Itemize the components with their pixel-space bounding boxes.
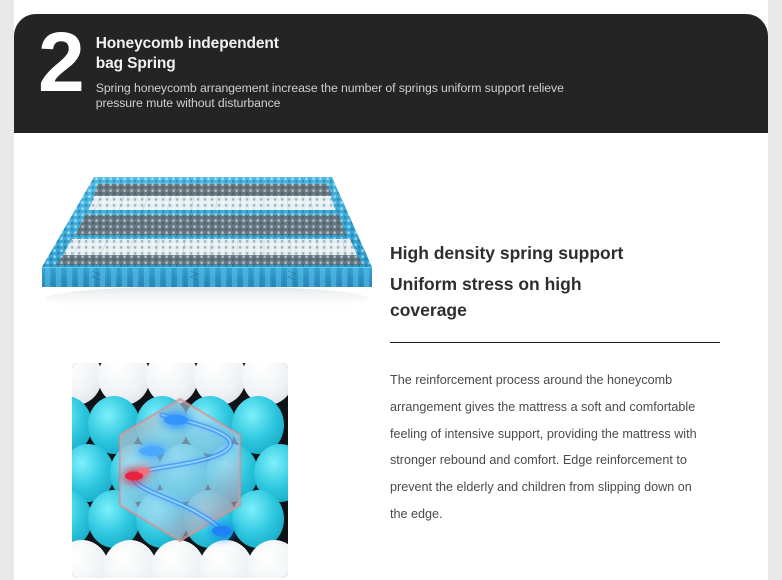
- section-body: High density spring support Uniform stre…: [14, 133, 768, 580]
- feature-text-column: High density spring support Uniform stre…: [390, 241, 730, 540]
- unit-zone-bands: [42, 177, 372, 267]
- section-subtitle: Spring honeycomb arrangement increase th…: [96, 81, 758, 112]
- section-title: Honeycomb independent bag Spring: [96, 34, 758, 74]
- section-header-banner: 2 Honeycomb independent bag Spring Sprin…: [14, 14, 768, 133]
- header-text-group: Honeycomb independent bag Spring Spring …: [96, 28, 758, 112]
- page-right-margin: [768, 0, 782, 580]
- pocket-spring-unit-graphic: [32, 171, 377, 321]
- headline-divider: [390, 342, 720, 343]
- honeycomb-hexagon-image: [72, 363, 288, 578]
- headline-secondary: Uniform stress on high coverage: [390, 272, 730, 323]
- headline-primary: High density spring support: [390, 241, 730, 266]
- header-content: 2 Honeycomb independent bag Spring Sprin…: [38, 28, 758, 133]
- page-left-margin: [0, 0, 14, 580]
- unit-shadow: [45, 286, 369, 312]
- pocket-spring-unit-image: [32, 171, 377, 321]
- honeycomb-field: [72, 363, 288, 578]
- feature-description: The reinforcement process around the hon…: [390, 367, 712, 527]
- product-detail-page: 2 Honeycomb independent bag Spring Sprin…: [0, 0, 782, 580]
- unit-front-springs: [45, 267, 369, 287]
- honeycomb-hexagon-graphic: [72, 363, 288, 578]
- step-number: 2: [38, 28, 82, 97]
